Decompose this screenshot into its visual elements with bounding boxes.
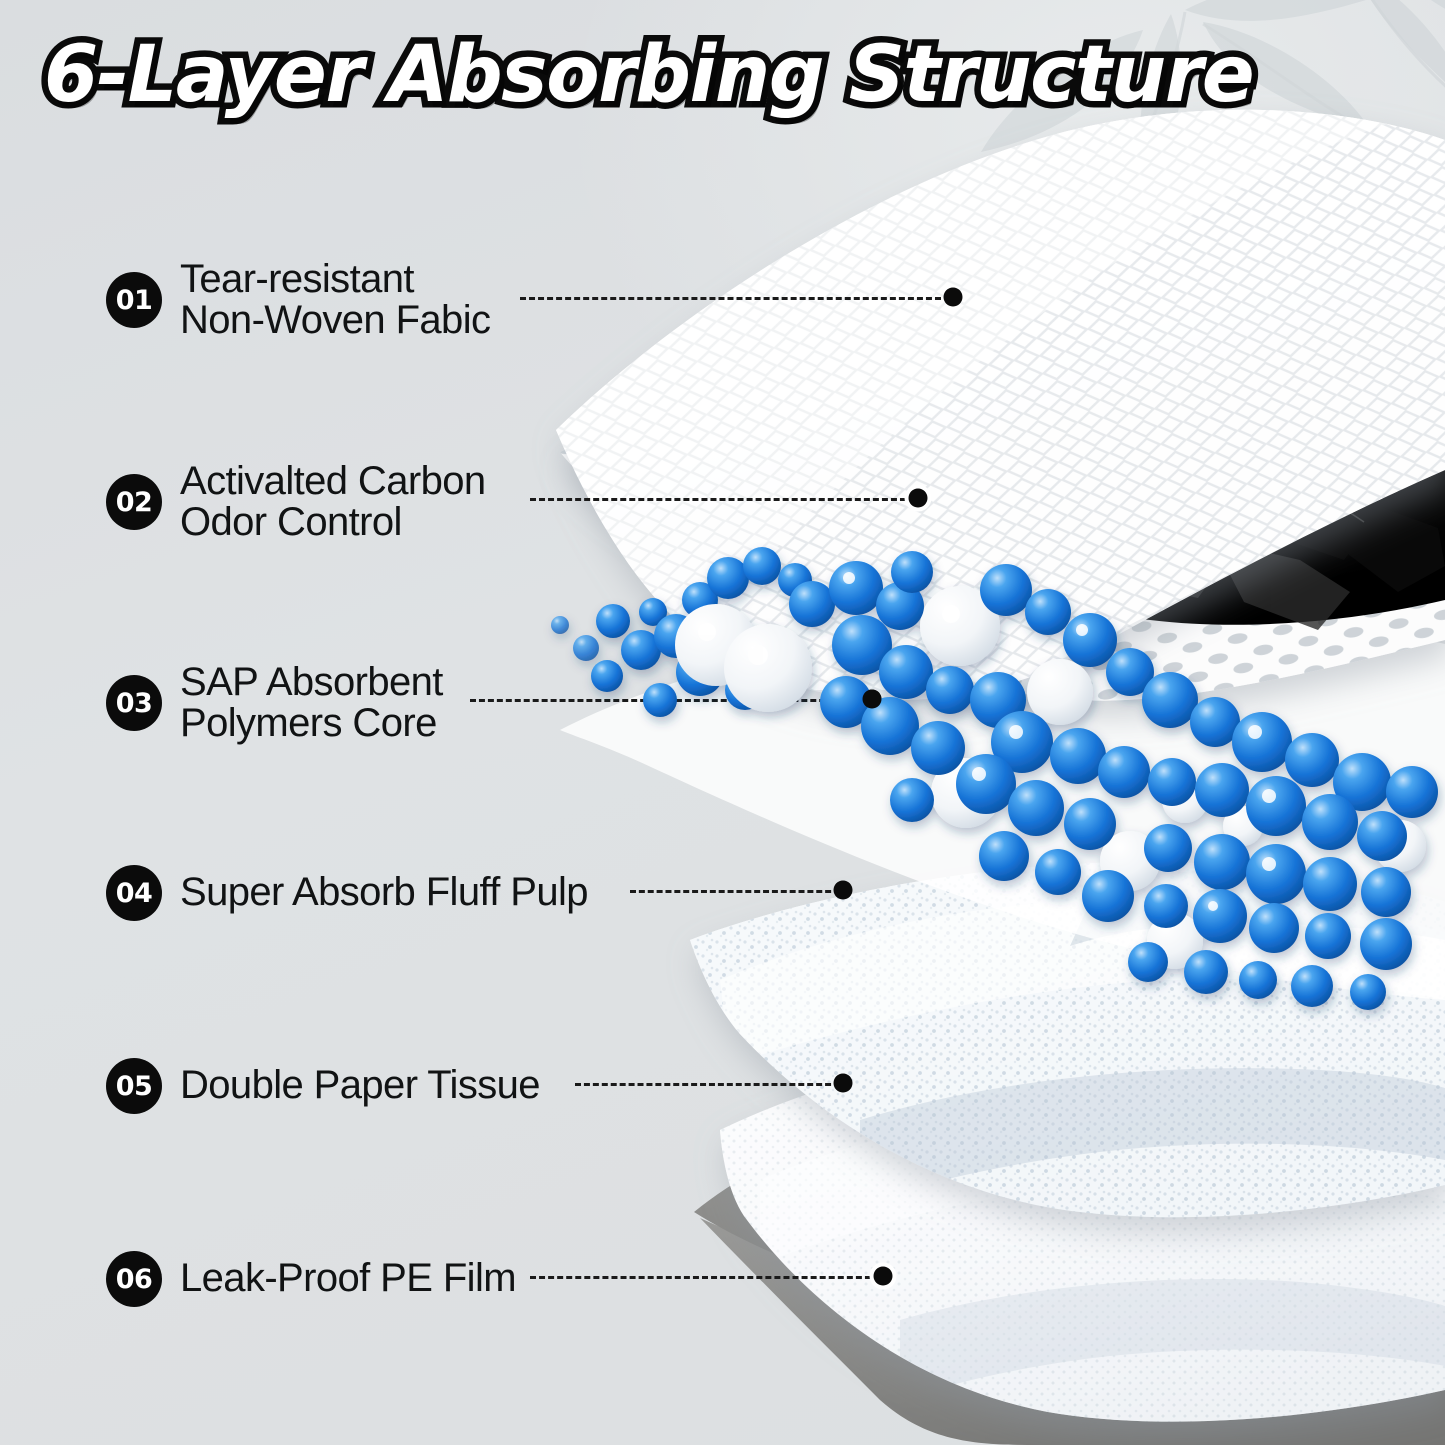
leader-line-05: [575, 1083, 840, 1086]
endpoint-dot-01: [944, 288, 963, 307]
layer-nonwoven-fabric: [530, 90, 1445, 700]
page-title: 6-Layer Absorbing Structure: [44, 36, 1253, 114]
callout-label-03-line1: SAP Absorbent: [180, 660, 443, 704]
leader-line-06: [530, 1276, 880, 1279]
leader-line-04: [630, 890, 840, 893]
callout-label-01-line2: Non-Woven Fabic: [180, 300, 490, 341]
badge-number-04: 04: [106, 865, 162, 921]
callout-label-02-line2: Odor Control: [180, 502, 486, 543]
badge-number-03: 03: [106, 675, 162, 731]
callout-label-06: Leak-Proof PE Film: [180, 1258, 516, 1299]
callout-label-05-line1: Double Paper Tissue: [180, 1063, 540, 1107]
layer-pe-film: [694, 1072, 1445, 1445]
callout-label-01: Tear-resistant Non-Woven Fabic: [180, 259, 490, 341]
callout-label-04-line1: Super Absorb Fluff Pulp: [180, 870, 588, 914]
layer-double-paper-tissue: [690, 1010, 1445, 1445]
callout-label-02-line1: Activalted Carbon: [180, 459, 486, 503]
badge-number-06: 06: [106, 1251, 162, 1307]
endpoint-dot-05: [834, 1074, 853, 1093]
layer-activated-carbon: [690, 330, 1445, 630]
endpoint-dot-06: [874, 1267, 893, 1286]
callout-label-06-line1: Leak-Proof PE Film: [180, 1256, 516, 1300]
callout-label-02: Activalted Carbon Odor Control: [180, 461, 486, 543]
callout-label-03-line2: Polymers Core: [180, 703, 443, 744]
badge-number-02: 02: [106, 474, 162, 530]
callout-label-03: SAP Absorbent Polymers Core: [180, 662, 443, 744]
endpoint-dot-03: [863, 690, 882, 709]
callout-label-05: Double Paper Tissue: [180, 1065, 540, 1106]
badge-number-05: 05: [106, 1058, 162, 1114]
leader-line-02: [530, 498, 915, 501]
badge-number-01: 01: [106, 272, 162, 328]
endpoint-dot-04: [834, 881, 853, 900]
layer-fluff-pulp: [660, 840, 1445, 1240]
endpoint-dot-02: [909, 489, 928, 508]
leader-line-03: [470, 699, 870, 702]
product-infographic-poster: 6-Layer Absorbing Structure 01 Tear-resi…: [0, 0, 1445, 1445]
leader-line-01: [520, 297, 950, 300]
callout-label-01-line1: Tear-resistant: [180, 257, 414, 301]
callout-label-04: Super Absorb Fluff Pulp: [180, 872, 588, 913]
layer-sap-carrier-sheet: [560, 611, 1445, 1000]
